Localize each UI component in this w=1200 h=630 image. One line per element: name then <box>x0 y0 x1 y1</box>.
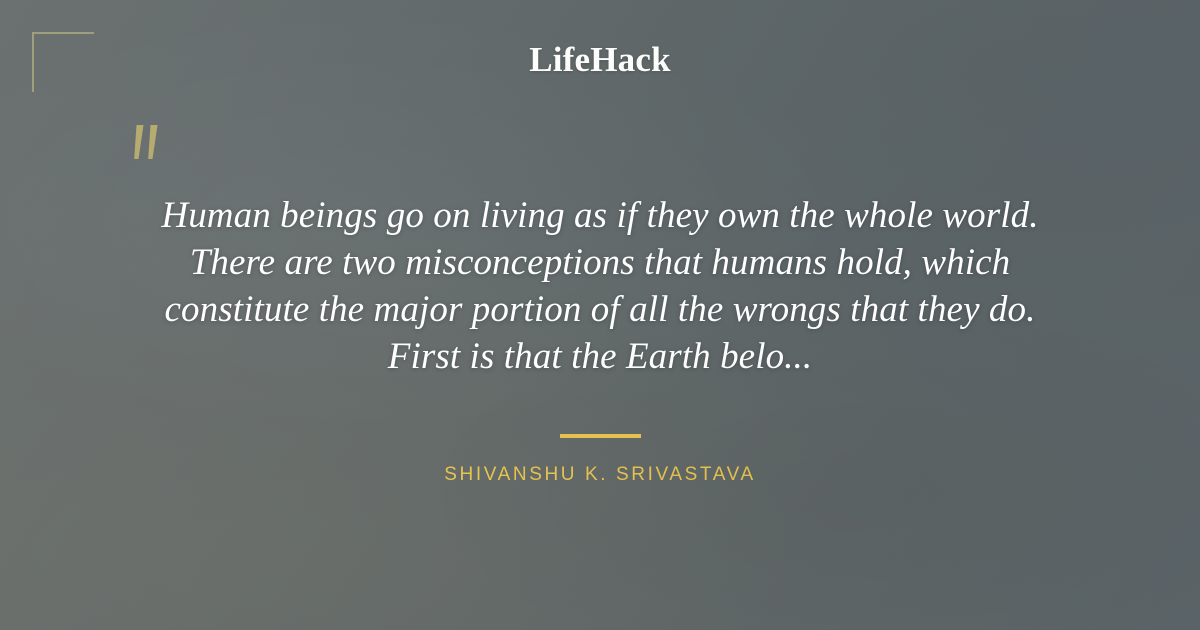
quote-text: Human beings go on living as if they own… <box>60 192 1140 380</box>
quote-line: Human beings go on living as if they own… <box>60 192 1140 239</box>
quote-line: constitute the major portion of all the … <box>60 286 1140 333</box>
author-name: SHIVANSHU K. SRIVASTAVA <box>0 464 1200 486</box>
quote-card: LifeHack Human beings go on living as if… <box>0 0 1200 630</box>
divider-rule <box>560 434 641 438</box>
quote-mark-icon <box>126 106 170 162</box>
quote-line: There are two misconceptions that humans… <box>60 239 1140 286</box>
brand-logo: LifeHack <box>0 40 1200 80</box>
quote-line: First is that the Earth belo... <box>60 333 1140 380</box>
